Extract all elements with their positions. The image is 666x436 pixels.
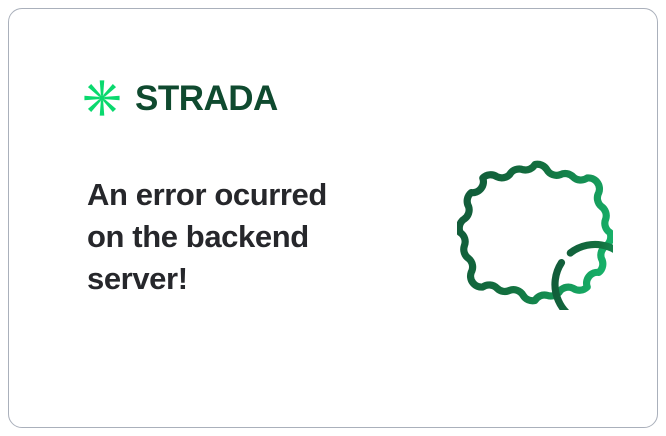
page-root: STRADA An error ocurred on the backend s… bbox=[0, 0, 666, 436]
error-message-line-2: on the backend bbox=[87, 216, 387, 258]
gear-icon bbox=[457, 154, 613, 310]
error-message-line-1: An error ocurred bbox=[87, 174, 387, 216]
strada-asterisk-icon bbox=[83, 79, 121, 117]
brand-lockup: STRADA bbox=[83, 79, 278, 117]
error-message: An error ocurred on the backend server! bbox=[87, 174, 387, 300]
error-card: STRADA An error ocurred on the backend s… bbox=[8, 8, 658, 428]
brand-wordmark: STRADA bbox=[135, 81, 278, 116]
gear-illustration bbox=[457, 154, 613, 310]
error-message-line-3: server! bbox=[87, 258, 387, 300]
